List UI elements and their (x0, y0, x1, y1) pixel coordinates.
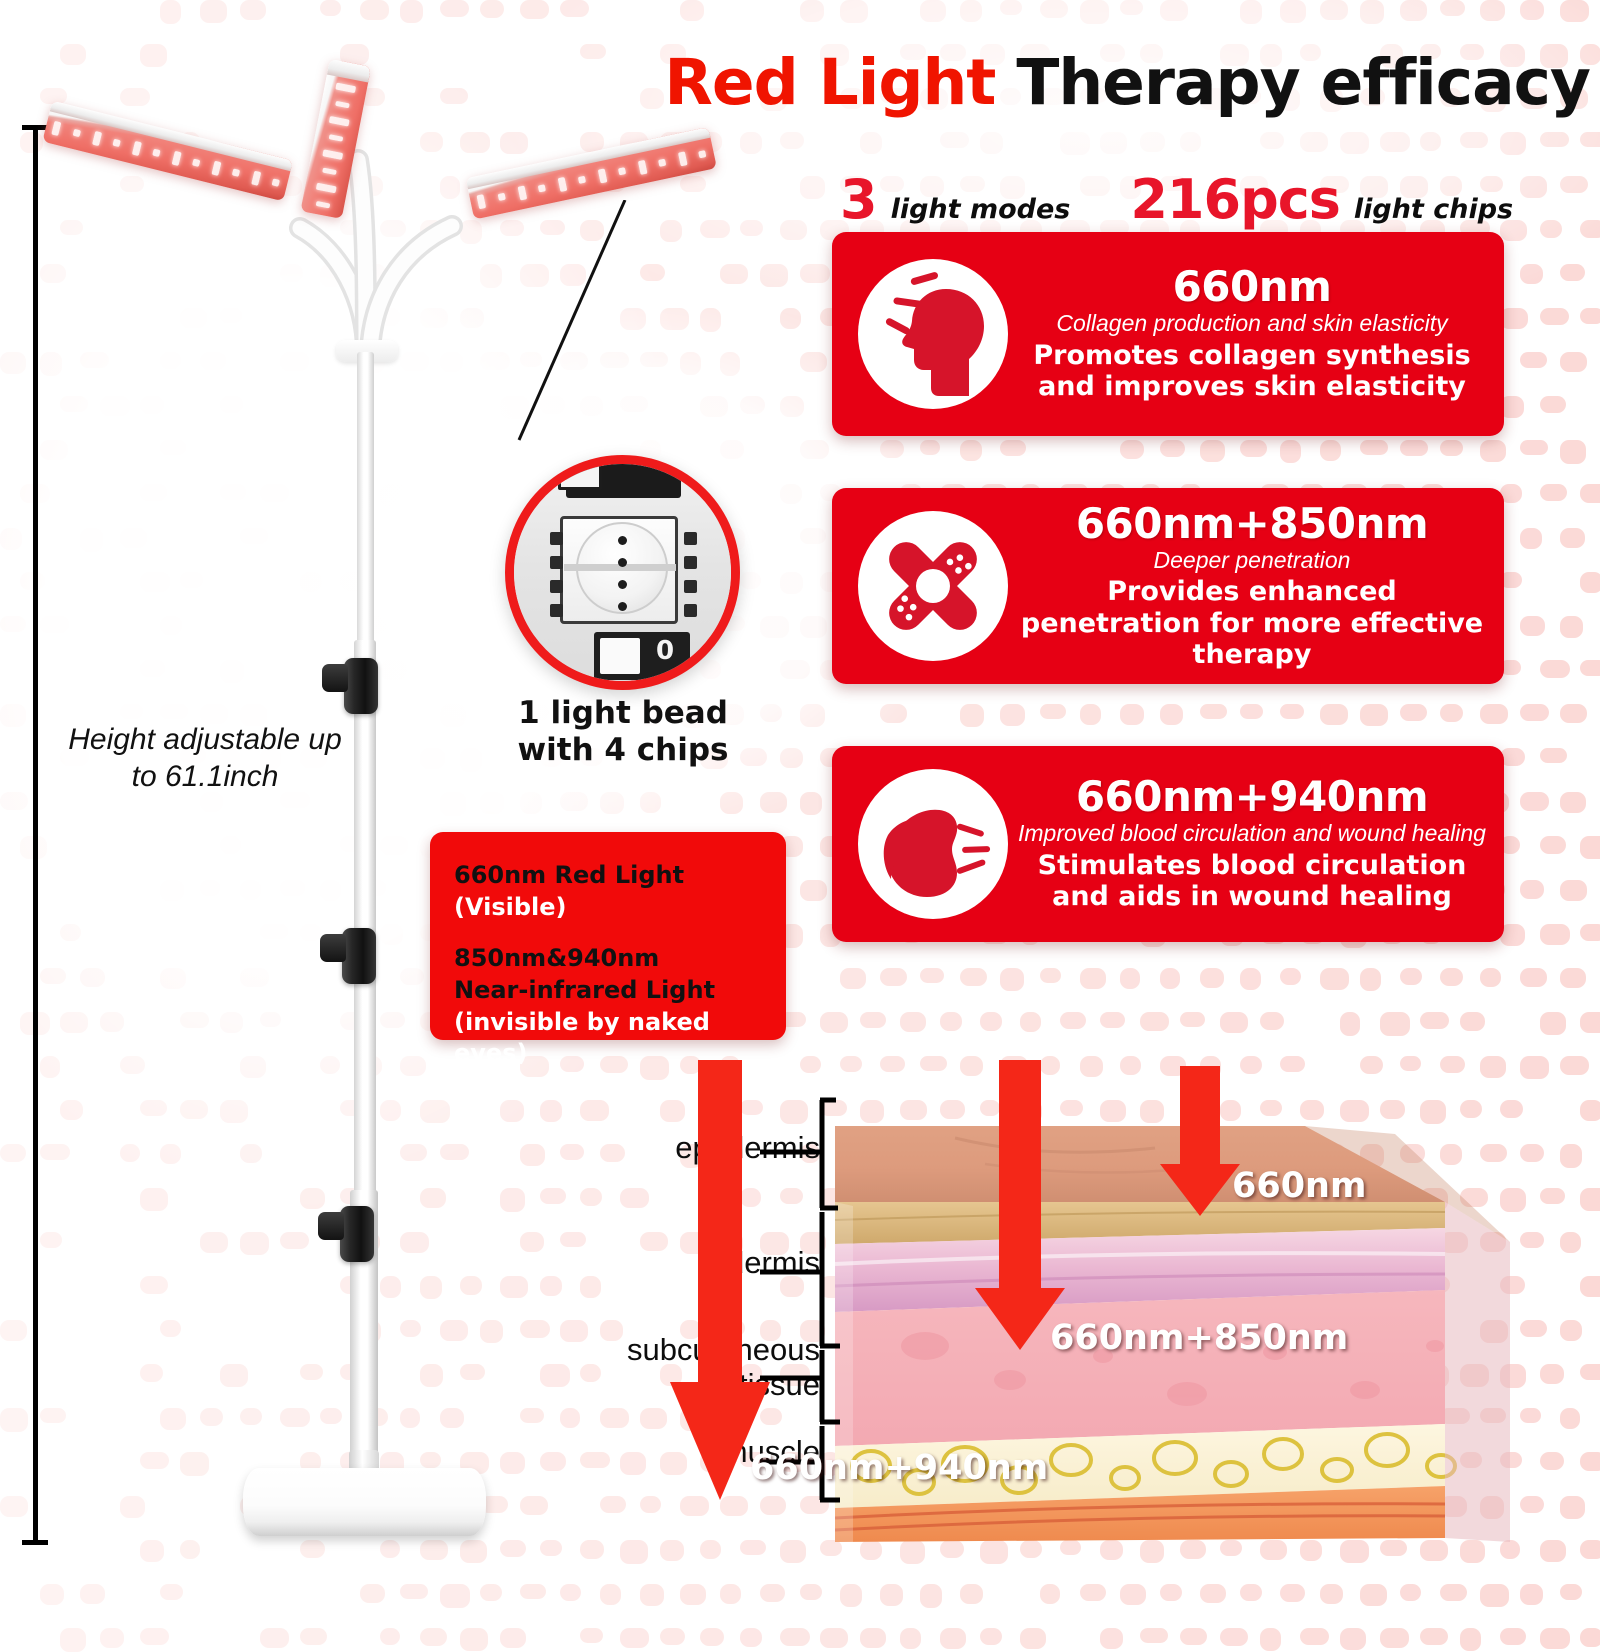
depth-tag-660nm-940nm: 660nm+940nm (750, 1448, 1048, 1488)
mode-card-660nm-940nm: 660nm+940nm Improved blood circulation a… (832, 746, 1504, 942)
wavelength-note-box: 660nm Red Light (Visible) 850nm&940nm Ne… (430, 832, 786, 1040)
mode-description: Promotes collagen synthesis and improves… (1014, 340, 1490, 403)
lamp-base-plate (243, 1468, 486, 1536)
penetration-arrow-660nm-940nm (670, 1060, 770, 1510)
penetration-arrow-660nm (1160, 1066, 1240, 1216)
led-bead-magnifier: 0 (505, 455, 740, 690)
mode-card-660nm: 660nm Collagen production and skin elast… (832, 232, 1504, 436)
pole-section-upper (357, 352, 374, 652)
height-clamp-upper[interactable] (344, 658, 378, 714)
pcb-marking-text: 0 (656, 636, 674, 666)
mode-wavelength: 660nm (1014, 265, 1490, 309)
note-line-2: (Visible) (454, 892, 786, 924)
note-line-1: 660nm Red Light (454, 860, 786, 892)
note-line-3: 850nm&940nm (454, 943, 786, 975)
mode-subtitle: Deeper penetration (1014, 548, 1490, 574)
mode-card-660nm-850nm: 660nm+850nm Deeper penetration Provides … (832, 488, 1504, 684)
light-chips-label: light chips (1354, 194, 1513, 225)
note-line-4: Near-infrared Light (454, 975, 786, 1007)
depth-tag-660nm-850nm: 660nm+850nm (1050, 1318, 1348, 1358)
mode-description: Provides enhanced penetration for more e… (1014, 576, 1490, 670)
light-modes-label: light modes (891, 194, 1071, 225)
mode-description: Stimulates blood circulation and aids in… (1014, 850, 1490, 913)
mode-wavelength: 660nm+850nm (1014, 502, 1490, 546)
crossed-bandages-icon (858, 511, 1008, 661)
skin-penetration-diagram: epodermis dermis subcutaneous tissue mus… (520, 1060, 1600, 1600)
height-clamp-middle[interactable] (342, 928, 376, 984)
penetration-arrow-660nm-850nm (975, 1060, 1065, 1355)
flexed-bicep-icon (858, 769, 1008, 919)
bead-caption: 1 light bead with 4 chips (478, 695, 768, 769)
light-chips-count: 216pcs (1130, 168, 1340, 231)
mode-subtitle: Collagen production and skin elasticity (1014, 311, 1490, 337)
light-modes-count: 3 (840, 168, 877, 231)
spec-line: 3 light modes 216pcs light chips (840, 168, 1590, 231)
title-black-part: Therapy efficacy (995, 46, 1590, 119)
head-profile-light-icon (858, 259, 1008, 409)
mode-subtitle: Improved blood circulation and wound hea… (1014, 821, 1490, 847)
mode-wavelength: 660nm+940nm (1014, 775, 1490, 819)
height-clamp-lower[interactable] (340, 1206, 374, 1262)
depth-tag-660nm: 660nm (1232, 1166, 1366, 1206)
